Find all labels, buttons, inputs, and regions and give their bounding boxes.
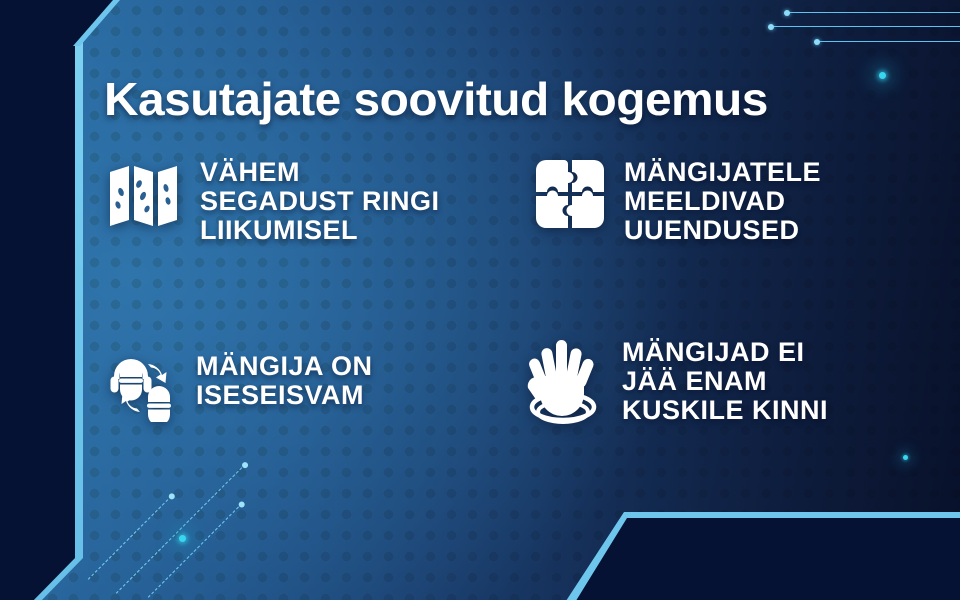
page-title: Kasutajate soovitud kogemus	[104, 72, 768, 126]
feature-item-player-independent: Mängija on iseseisvam	[108, 352, 373, 427]
slide-content: Kasutajate soovitud kogemus	[0, 0, 960, 600]
feature-item-players-like-updates: Mängijatele meeldivad uuendused	[534, 158, 821, 245]
feature-label: Mängijad ei jää enam kuskile kinni	[622, 338, 828, 425]
player-handoff-headset-icon	[108, 352, 182, 427]
hand-in-hole-icon	[520, 338, 606, 435]
slide-canvas: Kasutajate soovitud kogemus	[0, 0, 960, 600]
feature-item-less-confusion: Vähem segadust ringi liikumisel	[106, 158, 440, 245]
feature-label: Mängijatele meeldivad uuendused	[624, 158, 821, 245]
feature-label: Mängija on iseseisvam	[196, 352, 373, 410]
puzzle-pieces-icon	[534, 158, 606, 235]
folded-map-icon	[106, 158, 182, 239]
feature-item-not-stuck: Mängijad ei jää enam kuskile kinni	[520, 338, 828, 435]
feature-label: Vähem segadust ringi liikumisel	[200, 158, 440, 245]
